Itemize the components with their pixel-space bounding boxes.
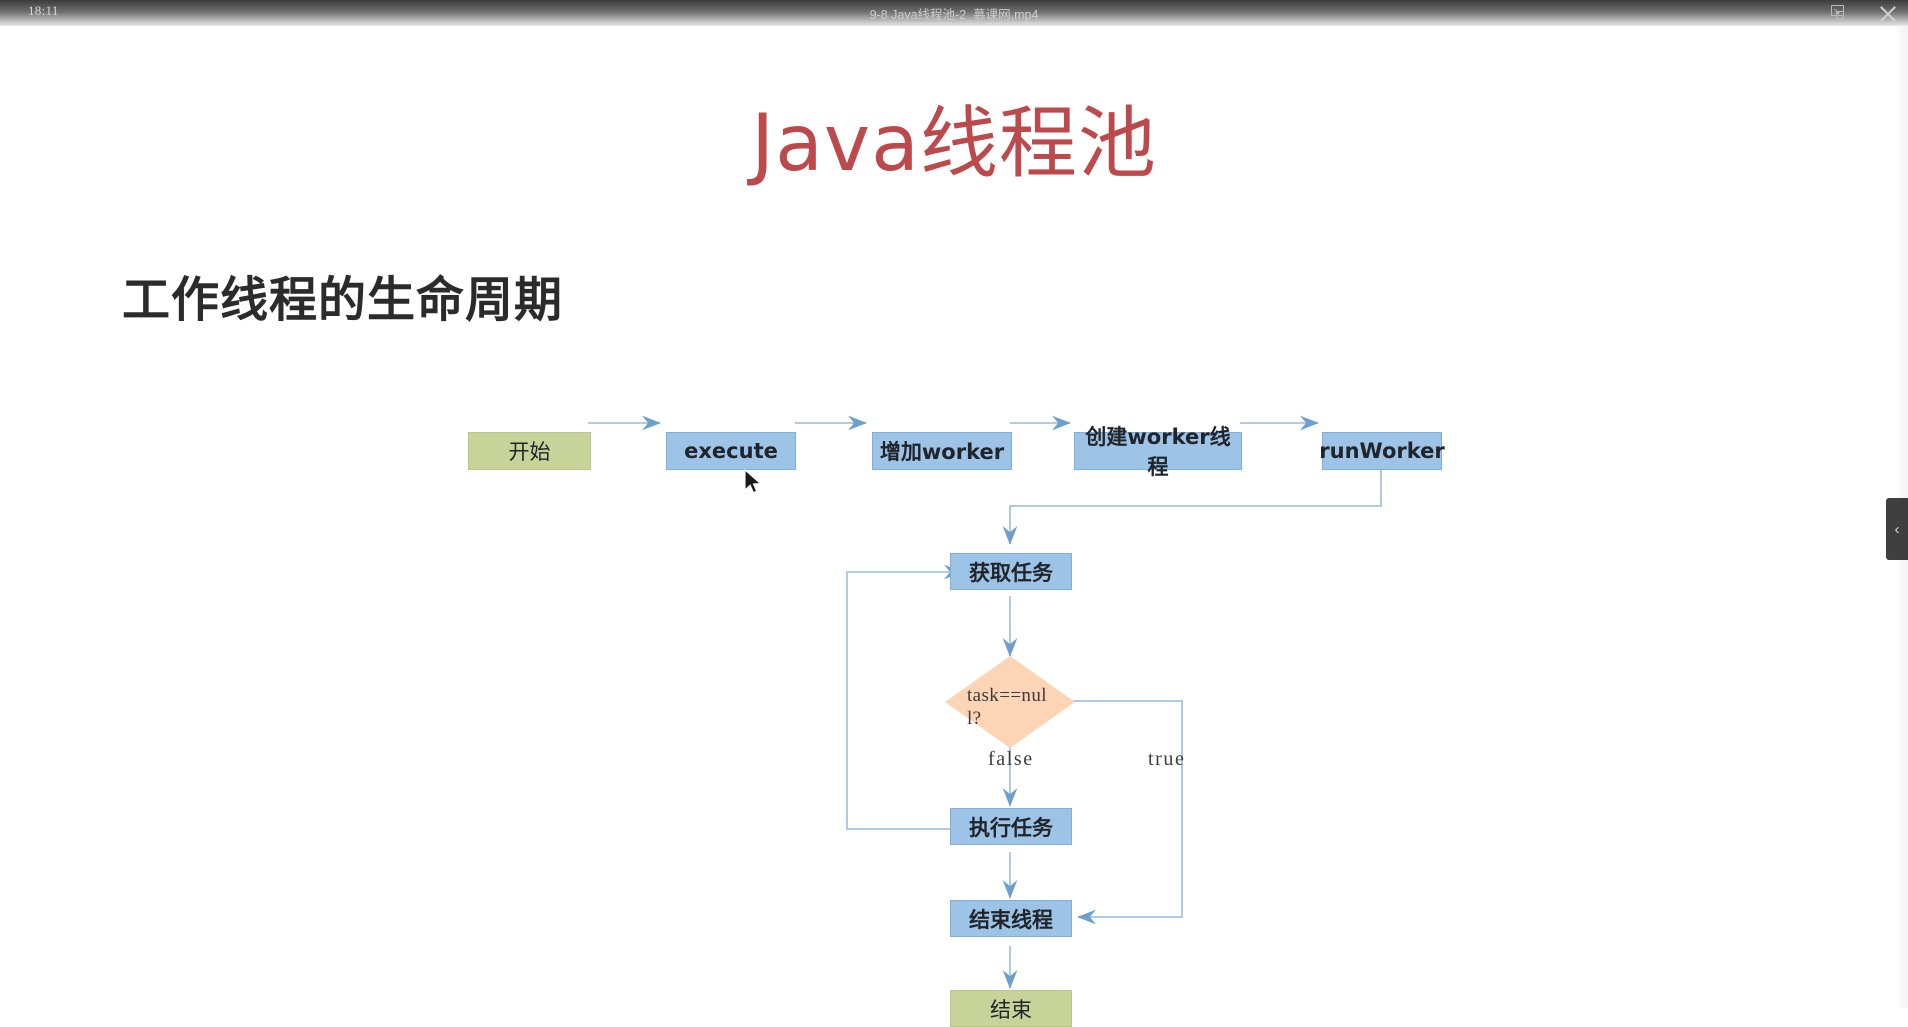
side-panel-toggle[interactable]: ‹ xyxy=(1886,498,1908,560)
decision-label-line1: task==nul xyxy=(967,684,1075,707)
decision-label: task==nul l? xyxy=(967,684,1075,730)
flow-node-execute: execute xyxy=(666,432,796,470)
edge-label-false: false xyxy=(988,748,1034,771)
flow-node-label: runWorker xyxy=(1319,439,1444,463)
flow-node-label: execute xyxy=(684,439,778,463)
flow-node-execute-task: 执行任务 xyxy=(950,808,1072,845)
slide-canvas: Java线程池 工作线程的生命周期 xyxy=(0,26,1908,1008)
mouse-cursor xyxy=(744,469,764,497)
flow-node-label: 结束线程 xyxy=(969,904,1053,934)
flow-node-run-worker: runWorker xyxy=(1322,432,1442,470)
player-title-bar: 18:11 9-8 Java线程池-2_慕课网.mp4 ↘ xyxy=(0,0,1908,26)
media-file-title: 9-8 Java线程池-2_慕课网.mp4 xyxy=(0,4,1908,23)
flow-node-end: 结束 xyxy=(950,990,1072,1027)
flow-node-get-task: 获取任务 xyxy=(950,553,1072,590)
flowchart-connectors xyxy=(0,26,1908,1008)
decision-label-line2: l? xyxy=(967,707,1075,730)
flow-node-start: 开始 xyxy=(468,432,591,470)
flow-node-task-null-decision: task==nul l? xyxy=(945,656,1075,748)
flowchart: 开始 execute 增加worker 创建worker线程 runWorker… xyxy=(0,26,1908,1008)
close-window-button[interactable] xyxy=(1876,2,1902,24)
flow-node-label: 获取任务 xyxy=(969,557,1053,587)
edge-label-true: true xyxy=(1148,748,1186,771)
flow-node-label: 结束 xyxy=(990,994,1032,1024)
chevron-left-icon: ‹ xyxy=(1895,521,1900,538)
close-icon xyxy=(1878,4,1898,24)
window-controls: ↘ xyxy=(1828,0,1902,26)
flow-node-add-worker: 增加worker xyxy=(872,432,1012,470)
restore-icon: ↘ xyxy=(1831,5,1847,20)
flow-node-label: 开始 xyxy=(509,436,551,466)
flow-node-end-thread: 结束线程 xyxy=(950,900,1072,937)
flow-node-label: 执行任务 xyxy=(969,812,1053,842)
flow-node-create-worker-thread: 创建worker线程 xyxy=(1074,432,1242,470)
flow-node-label: 创建worker线程 xyxy=(1075,421,1241,481)
flow-node-label: 增加worker xyxy=(880,436,1004,466)
restore-window-button[interactable]: ↘ xyxy=(1828,2,1854,24)
